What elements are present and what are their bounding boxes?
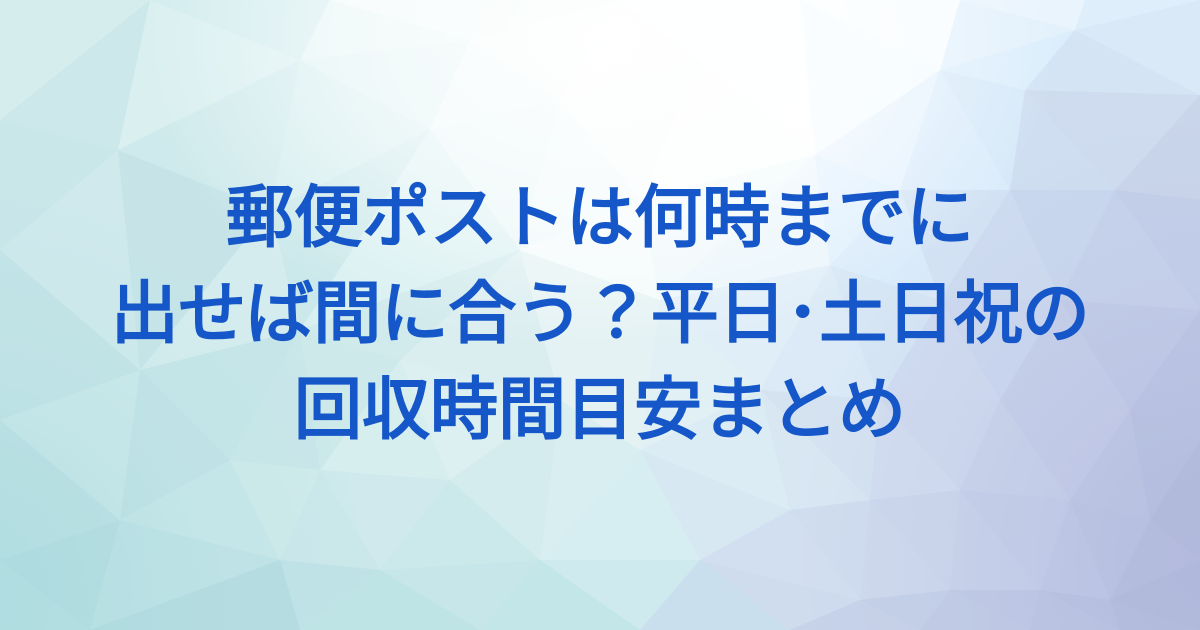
title-line-1: 郵便ポストは何時までに <box>226 171 974 267</box>
thumbnail-canvas: 郵便ポストは何時までに 出せば間に合う？平日･土日祝の 回収時間目安まとめ <box>0 0 1200 630</box>
title-line-3: 回収時間目安まとめ <box>294 363 906 459</box>
title-block: 郵便ポストは何時までに 出せば間に合う？平日･土日祝の 回収時間目安まとめ <box>0 0 1200 630</box>
title-line-2: 出せば間に合う？平日･土日祝の <box>111 267 1090 363</box>
